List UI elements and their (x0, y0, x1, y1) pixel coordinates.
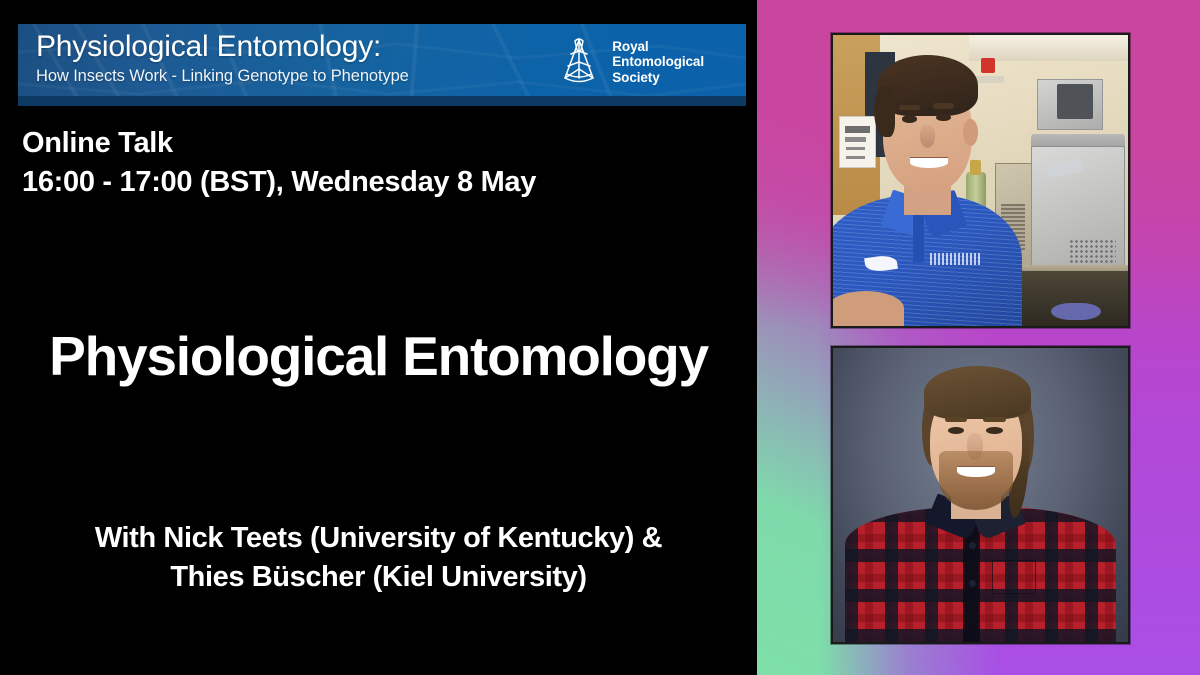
banner-title: Physiological Entomology: (36, 31, 409, 63)
res-wordmark-line-1: Royal (612, 39, 704, 55)
journal-banner: Physiological Entomology: How Insects Wo… (18, 24, 746, 106)
page-title: Physiological Entomology (0, 328, 757, 386)
speakers-block: With Nick Teets (University of Kentucky)… (0, 519, 757, 598)
event-datetime-label: 16:00 - 17:00 (BST), Wednesday 8 May (22, 163, 536, 202)
speaker-photo-thies-buscher (831, 346, 1130, 644)
res-wordmark: Royal Entomological Society (612, 39, 704, 86)
event-type-label: Online Talk (22, 124, 536, 163)
photo-content-lab-portrait (833, 35, 1128, 326)
right-gradient-panel (757, 0, 1200, 675)
speakers-line-2: Thies Büscher (Kiel University) (0, 558, 757, 597)
royal-entomological-society-moth-logo-icon (555, 36, 603, 88)
left-content-panel: Physiological Entomology: How Insects Wo… (0, 0, 757, 675)
speakers-line-1: With Nick Teets (University of Kentucky)… (0, 519, 757, 558)
banner-subtitle: How Insects Work - Linking Genotype to P… (36, 67, 409, 86)
speaker-photo-nick-teets (831, 33, 1130, 328)
res-logo: Royal Entomological Society (555, 36, 704, 88)
event-meta: Online Talk 16:00 - 17:00 (BST), Wednesd… (22, 124, 536, 202)
res-wordmark-line-2: Entomological (612, 54, 704, 70)
banner-bottom-strip (18, 96, 746, 106)
photo-content-studio-portrait (833, 348, 1128, 642)
banner-text-block: Physiological Entomology: How Insects Wo… (36, 31, 409, 86)
res-wordmark-line-3: Society (612, 70, 704, 86)
promo-slide: Physiological Entomology: How Insects Wo… (0, 0, 1200, 675)
